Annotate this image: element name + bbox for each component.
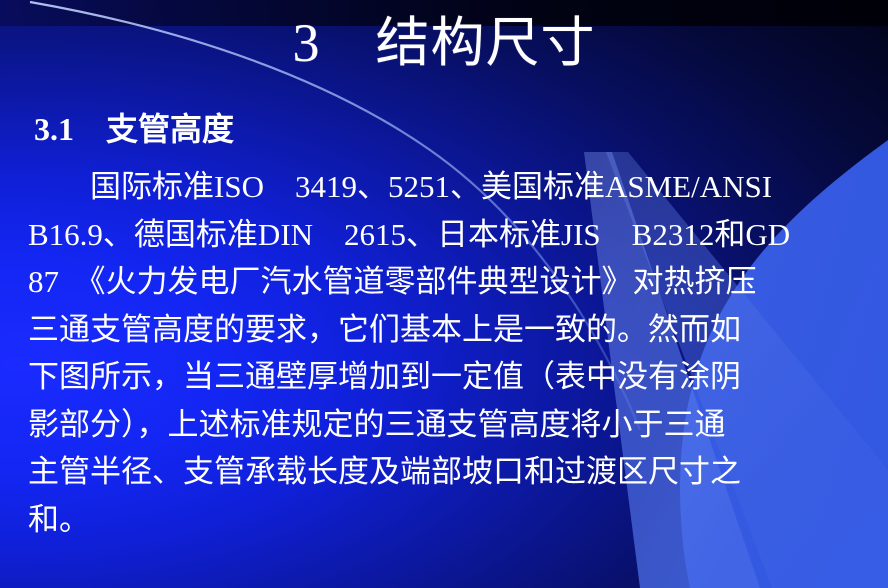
body-line: 国际标准ISO 3419、5251、美国标准ASME/ANSI	[28, 163, 878, 211]
page-title: 3 结构尺寸	[0, 16, 888, 70]
body-line: 主管半径、支管承载长度及端部坡口和过渡区尺寸之	[28, 448, 878, 496]
body-line: 三通支管高度的要求，它们基本上是一致的。然而如	[28, 306, 878, 354]
body-line: 87 《火力发电厂汽水管道零部件典型设计》对热挤压	[28, 258, 878, 306]
body-line: 影部分），上述标准规定的三通支管高度将小于三通	[28, 401, 878, 449]
section-heading: 3.1 支管高度	[34, 112, 234, 147]
body-line: 和。	[28, 496, 878, 544]
body-line: 下图所示，当三通壁厚增加到一定值（表中没有涂阴	[28, 353, 878, 401]
body-line: B16.9、德国标准DIN 2615、日本标准JIS B2312和GD	[28, 211, 878, 259]
presentation-slide: 3 结构尺寸 3.1 支管高度 国际标准ISO 3419、5251、美国标准AS…	[0, 0, 888, 588]
slide-content: 3 结构尺寸 3.1 支管高度 国际标准ISO 3419、5251、美国标准AS…	[0, 0, 888, 588]
body-text-block: 国际标准ISO 3419、5251、美国标准ASME/ANSI B16.9、德国…	[28, 163, 878, 543]
